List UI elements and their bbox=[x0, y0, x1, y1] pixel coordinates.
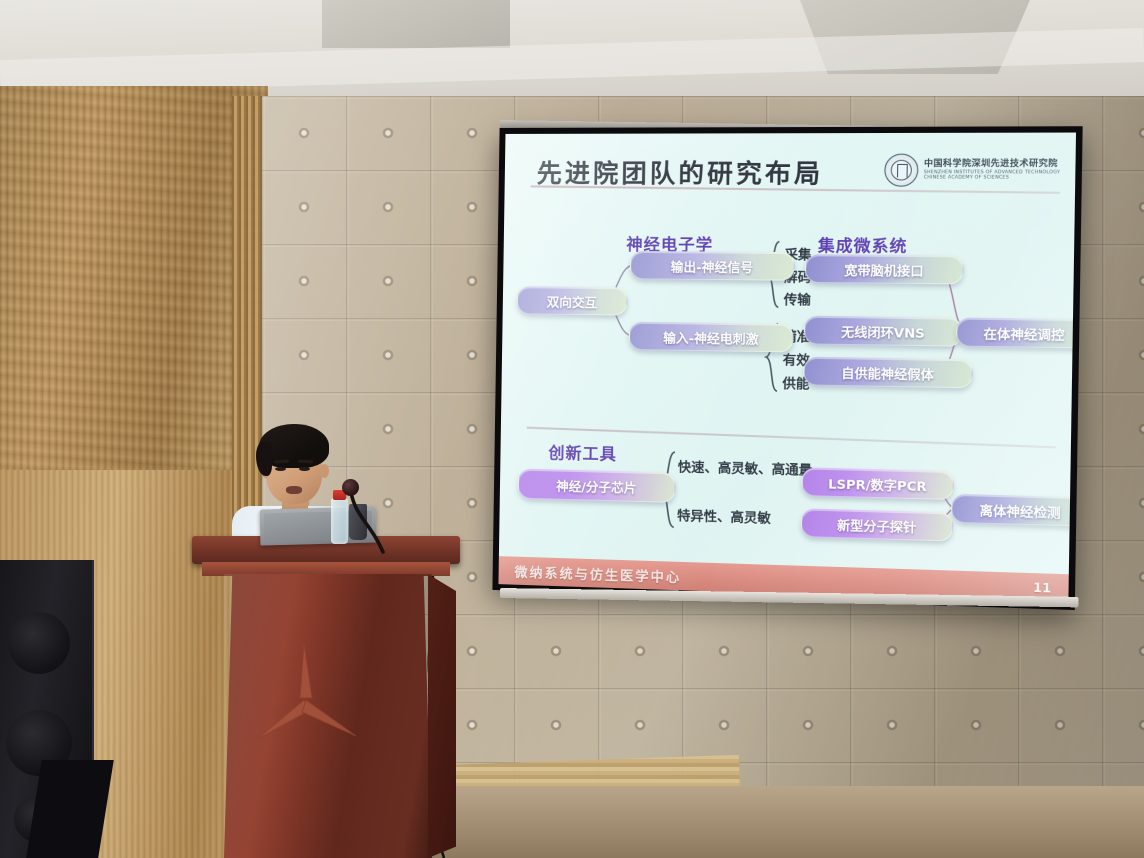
node-lspr[interactable]: LSPR/数字PCR bbox=[801, 467, 954, 500]
attr-output-3: 传输 bbox=[784, 289, 811, 309]
podium bbox=[192, 536, 460, 858]
logo-text-chinese: 中国科学院深圳先进技术研究院 bbox=[924, 159, 1061, 170]
presenter-eye-right bbox=[299, 467, 310, 471]
presenter-mouth bbox=[286, 486, 302, 494]
water-bottle bbox=[331, 498, 348, 544]
attr-tool-2: 特异性、高灵敏 bbox=[677, 505, 771, 527]
podium-lip bbox=[202, 562, 450, 576]
presenter-hair bbox=[259, 424, 329, 468]
node-probe[interactable]: 新型分子探针 bbox=[801, 508, 954, 541]
node-ex-vivo-detection[interactable]: 离体神经检测 bbox=[951, 494, 1076, 527]
photo-scene: 先进院团队的研究布局 中国科学院深圳先进技术研究院 SHENZHEN INSTI… bbox=[0, 0, 1144, 858]
presenter-eye-left bbox=[275, 467, 286, 471]
logo-text-english-2: CHINESE ACADEMY OF SCIENCES bbox=[924, 176, 1060, 182]
attr-tool-1: 快速、高灵敏、高通量 bbox=[678, 456, 813, 479]
node-chip[interactable]: 神经/分子芯片 bbox=[518, 469, 676, 503]
presentation-slide: 先进院团队的研究布局 中国科学院深圳先进技术研究院 SHENZHEN INSTI… bbox=[498, 133, 1076, 604]
three-pointed-star-icon bbox=[246, 636, 366, 766]
footer-center-name: 微纳系统与仿生医学中心 bbox=[514, 561, 681, 586]
node-prosthesis[interactable]: 自供能神经假体 bbox=[803, 357, 973, 389]
node-bci[interactable]: 宽带脑机接口 bbox=[805, 254, 964, 284]
heading-integrated-microsystem: 集成微系统 bbox=[818, 232, 908, 257]
ceiling-coffer-left bbox=[322, 0, 510, 48]
node-vns[interactable]: 无线闭环VNS bbox=[804, 316, 963, 347]
footer-page-number: 11 bbox=[1033, 580, 1051, 595]
academy-seal-icon bbox=[884, 154, 918, 187]
microphone-head bbox=[342, 479, 359, 496]
node-output-signal[interactable]: 输出-神经信号 bbox=[630, 251, 795, 281]
node-bidirectional[interactable]: 双向交互 bbox=[517, 286, 628, 315]
institute-logo: 中国科学院深圳先进技术研究院 SHENZHEN INSTITUTES OF AD… bbox=[884, 153, 1060, 186]
microphone-gooseneck bbox=[349, 490, 393, 556]
projection-screen: 先进院团队的研究布局 中国科学院深圳先进技术研究院 SHENZHEN INSTI… bbox=[492, 126, 1082, 610]
node-in-vivo-modulation[interactable]: 在体神经调控 bbox=[956, 318, 1076, 349]
node-input-stimulation[interactable]: 输入-神经电刺激 bbox=[629, 322, 794, 353]
podium-side-panel bbox=[428, 574, 456, 858]
presenter-ear-right bbox=[320, 464, 329, 478]
heading-innovative-tools: 创新工具 bbox=[548, 439, 617, 465]
